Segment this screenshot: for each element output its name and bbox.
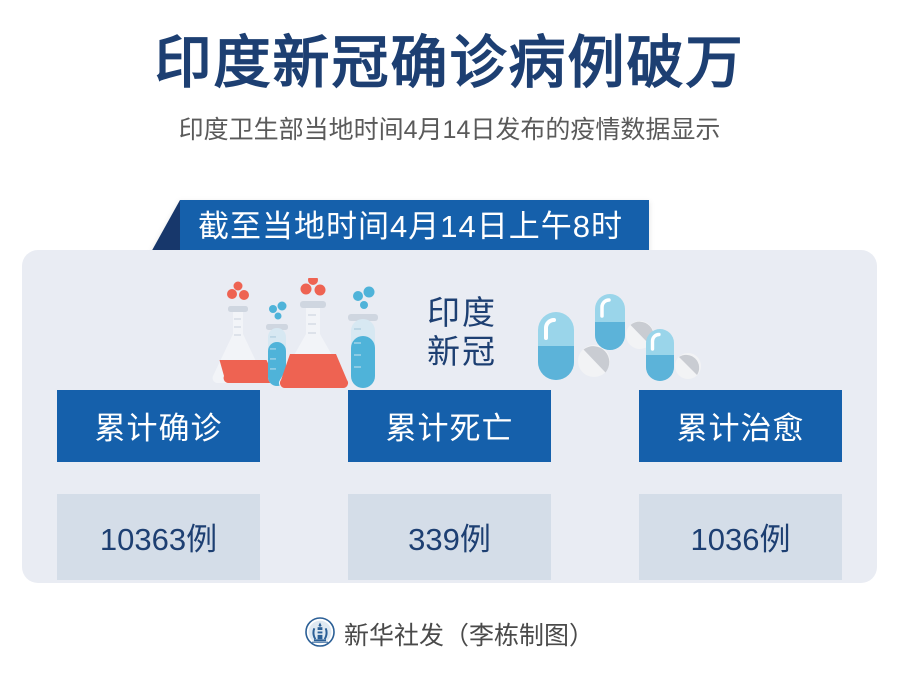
banner-label: 截至当地时间4月14日上午8时 (180, 200, 649, 254)
stat-label-recovered: 累计治愈 (639, 390, 842, 462)
banner-notch-shape (150, 200, 180, 254)
stat-value-recovered: 1036例 (639, 494, 842, 580)
stat-card-recovered: 累计治愈 1036例 (639, 390, 842, 580)
illustration-center-label: 印度 新冠 (402, 294, 522, 372)
stat-cards: 累计确诊 10363例 累计死亡 339例 累计治愈 1036例 (22, 390, 877, 580)
footer-credit-text: 新华社发（李栋制图） (344, 616, 594, 652)
stat-card-deaths: 累计死亡 339例 (348, 390, 551, 580)
stats-panel: 印度 新冠 (22, 250, 877, 583)
page-header: 印度新冠确诊病例破万 印度卫生部当地时间4月14日发布的疫情数据显示 (0, 0, 899, 146)
illustration-row: 印度 新冠 (22, 270, 877, 390)
footer-credit-row: 新华社发（李栋制图） (0, 616, 899, 652)
as-of-banner: 截至当地时间4月14日上午8时 (150, 200, 649, 254)
pills-capsules-icon (522, 288, 712, 393)
stat-value-deaths: 339例 (348, 494, 551, 580)
stat-card-confirmed: 累计确诊 10363例 (57, 390, 260, 580)
xinhua-logo-icon (305, 617, 335, 652)
page-title: 印度新冠确诊病例破万 (0, 34, 899, 94)
illustration-center-line-1: 印度 (402, 294, 522, 333)
page-subtitle: 印度卫生部当地时间4月14日发布的疫情数据显示 (0, 110, 899, 146)
illustration-center-line-2: 新冠 (402, 333, 522, 372)
stat-label-confirmed: 累计确诊 (57, 390, 260, 462)
lab-flasks-icon (200, 278, 390, 395)
stat-label-deaths: 累计死亡 (348, 390, 551, 462)
stat-value-confirmed: 10363例 (57, 494, 260, 580)
